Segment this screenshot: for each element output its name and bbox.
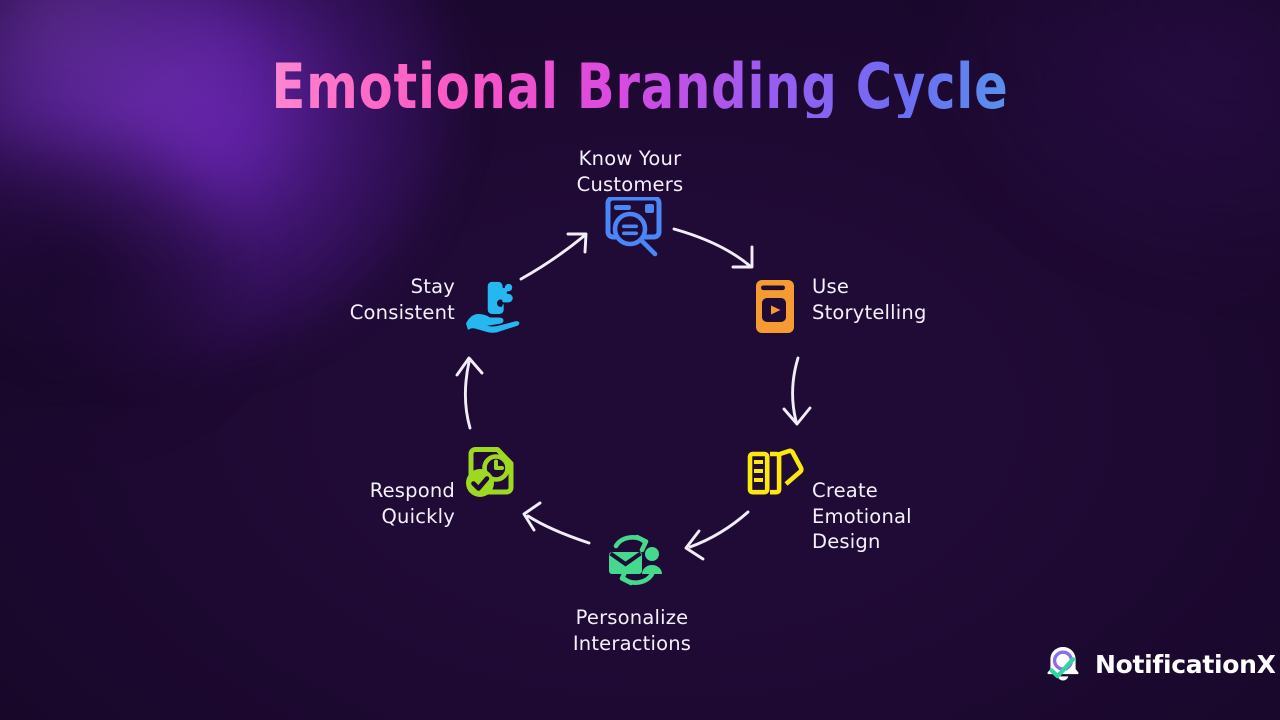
step-label-respond-quickly: Respond Quickly (300, 478, 455, 529)
brand-logo: NotificationX (1042, 643, 1276, 685)
step-label-know-your-customers: Know Your Customers (530, 146, 730, 197)
customer-search-icon (605, 197, 662, 257)
book-play-icon (752, 278, 798, 335)
infographic-canvas: Emotional Branding Cycle .ar { fill:none… (0, 0, 1280, 720)
step-label-stay-consistent: Stay Consistent (300, 274, 455, 325)
document-clock-check-icon (463, 445, 521, 503)
step-label-create-emotional-design: Create Emotional Design (812, 478, 1012, 555)
color-palette-swatch-icon (744, 447, 806, 503)
notificationx-bell-check-logo (1042, 643, 1084, 685)
hand-puzzle-icon (464, 277, 522, 333)
brand-name: NotificationX (1095, 650, 1276, 679)
page-title: Emotional Branding Cycle (128, 56, 1152, 118)
mail-person-sync-icon (604, 532, 664, 590)
step-label-personalize-interactions: Personalize Interactions (532, 605, 732, 656)
step-label-use-storytelling: Use Storytelling (812, 274, 1002, 325)
